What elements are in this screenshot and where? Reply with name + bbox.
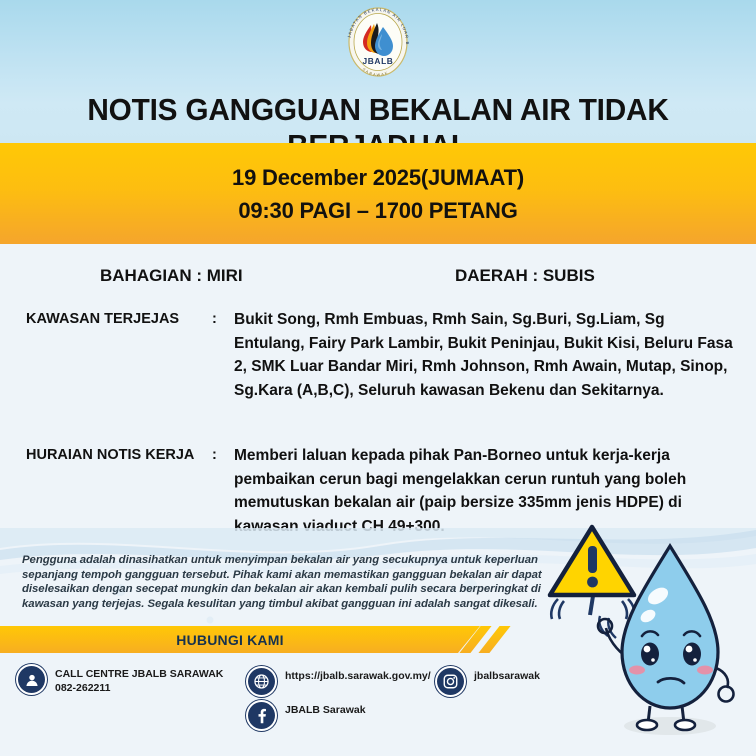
disclaimer-text: Pengguna adalah dinasihatkan untuk menyi…: [22, 553, 567, 611]
instagram-handle: jbalbsarawak: [474, 668, 540, 683]
jbalb-logo: JABATAN BEKALAN AIR LUAR BANDAR SARAWAK …: [342, 4, 414, 80]
website-url: https://jbalb.sarawak.gov.my/: [285, 668, 431, 683]
affected-areas-colon: :: [212, 308, 234, 402]
water-droplet-mascot: [588, 518, 756, 756]
facebook-icon: [248, 702, 275, 729]
header-banner: JABATAN BEKALAN AIR LUAR BANDAR SARAWAK …: [0, 0, 756, 143]
affected-areas-block: KAWASAN TERJEJAS : Bukit Song, Rmh Embua…: [0, 308, 756, 402]
notice-time: 09:30 PAGI – 1700 PETANG: [238, 194, 517, 227]
globe-icon: [248, 668, 275, 695]
instagram-icon: [437, 668, 464, 695]
facebook-handle: JBALB Sarawak: [285, 702, 366, 717]
contact-facebook[interactable]: JBALB Sarawak: [248, 702, 366, 729]
contact-call-centre[interactable]: CALL CENTRE JBALB SARAWAK 082-262211: [18, 666, 223, 695]
contact-website[interactable]: https://jbalb.sarawak.gov.my/: [248, 668, 431, 695]
svg-text:JBALB: JBALB: [363, 56, 394, 66]
call-centre-text: CALL CENTRE JBALB SARAWAK 082-262211: [55, 666, 223, 695]
affected-areas-value: Bukit Song, Rmh Embuas, Rmh Sain, Sg.Bur…: [234, 308, 734, 402]
contact-banner-label: HUBUNGI KAMI: [0, 626, 460, 653]
work-description-colon: :: [212, 444, 234, 538]
notice-date: 19 December 2025(JUMAAT): [232, 161, 524, 194]
notice-poster: JABATAN BEKALAN AIR LUAR BANDAR SARAWAK …: [0, 0, 756, 756]
notice-body: BAHAGIAN : MIRI DAERAH : SUBIS KAWASAN T…: [0, 244, 756, 544]
daerah-label: DAERAH : SUBIS: [455, 266, 595, 286]
affected-areas-label: KAWASAN TERJEJAS: [0, 308, 212, 402]
work-description-label: HURAIAN NOTIS KERJA: [0, 444, 212, 538]
bahagian-label: BAHAGIAN : MIRI: [100, 266, 243, 286]
date-time-band: 19 December 2025(JUMAAT) 09:30 PAGI – 17…: [0, 143, 756, 244]
call-centre-line1: CALL CENTRE JBALB SARAWAK: [55, 668, 223, 680]
person-icon: [18, 666, 45, 693]
call-centre-line2: 082-262211: [55, 681, 223, 695]
contact-instagram[interactable]: jbalbsarawak: [437, 668, 540, 695]
